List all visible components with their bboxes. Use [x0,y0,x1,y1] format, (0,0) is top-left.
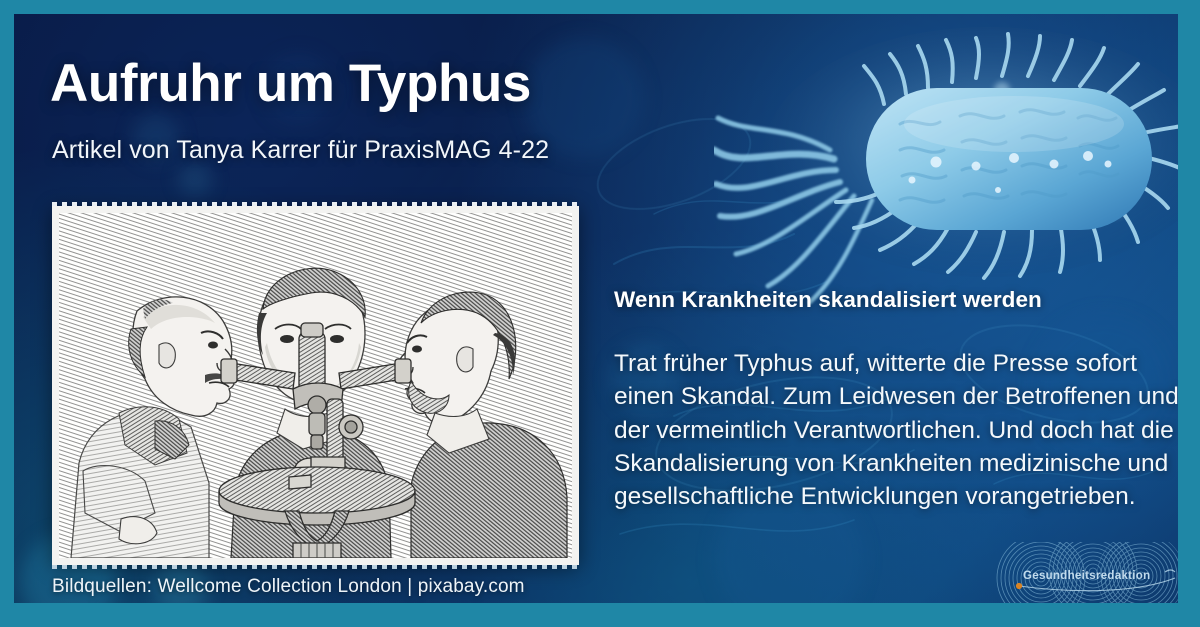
article-body: Trat früher Typhus auf, witterte die Pre… [614,347,1178,514]
engraving-photo-frame [52,206,579,565]
article-heading: Wenn Krankheiten skandalisiert werden [614,287,1178,313]
page-subtitle: Artikel von Tanya Karrer für PraxisMAG 4… [52,136,549,165]
page-title: Aufruhr um Typhus [50,56,531,112]
outer-frame: Aufruhr um Typhus Artikel von Tanya Karr… [0,0,1200,627]
engraving-photo [59,213,572,558]
gesundheitsredaktion-logo: Gesundheitsredaktion [989,542,1178,603]
logo-wordmark: Gesundheitsredaktion [1023,570,1150,582]
bacterium-illustration [714,14,1178,314]
image-source-caption: Bildquellen: Wellcome Collection London … [52,576,525,598]
poster-canvas: Aufruhr um Typhus Artikel von Tanya Karr… [14,14,1178,603]
